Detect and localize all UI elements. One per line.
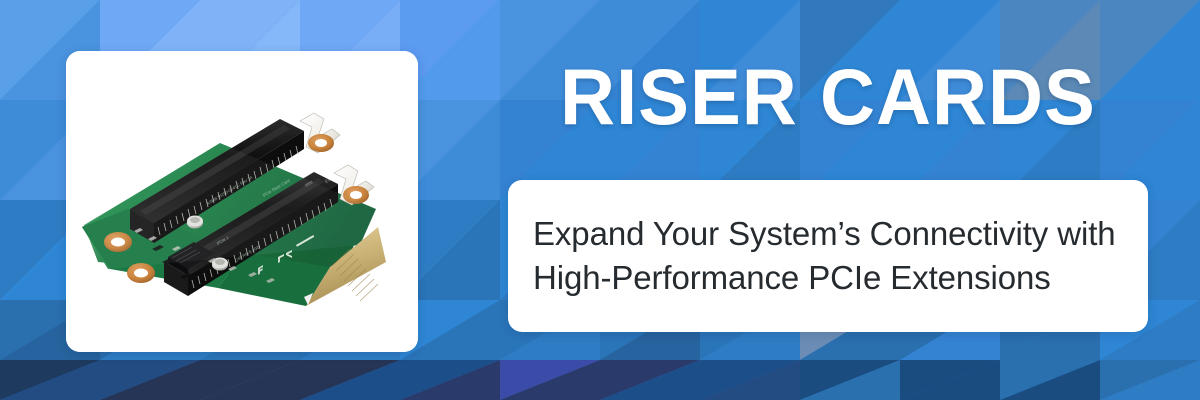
promo-banner: PCIe 1 C8P,RN-5 4GB PCIe Riser Card A3MB… <box>0 0 1200 400</box>
subtitle-card: Expand Your System’s Connectivity with H… <box>508 180 1148 332</box>
subtitle-text: Expand Your System’s Connectivity with H… <box>533 212 1129 300</box>
product-image-card: PCIe 1 C8P,RN-5 4GB PCIe Riser Card A3MB… <box>66 51 418 352</box>
page-title: RISER CARDS <box>560 52 1139 142</box>
subtitle-line-1: Expand Your System’s Connectivity with <box>533 212 1129 256</box>
riser-card-photo: PCIe 1 C8P,RN-5 4GB PCIe Riser Card A3MB… <box>66 51 418 352</box>
subtitle-line-2: High-Performance PCIe Extensions <box>533 256 1129 300</box>
